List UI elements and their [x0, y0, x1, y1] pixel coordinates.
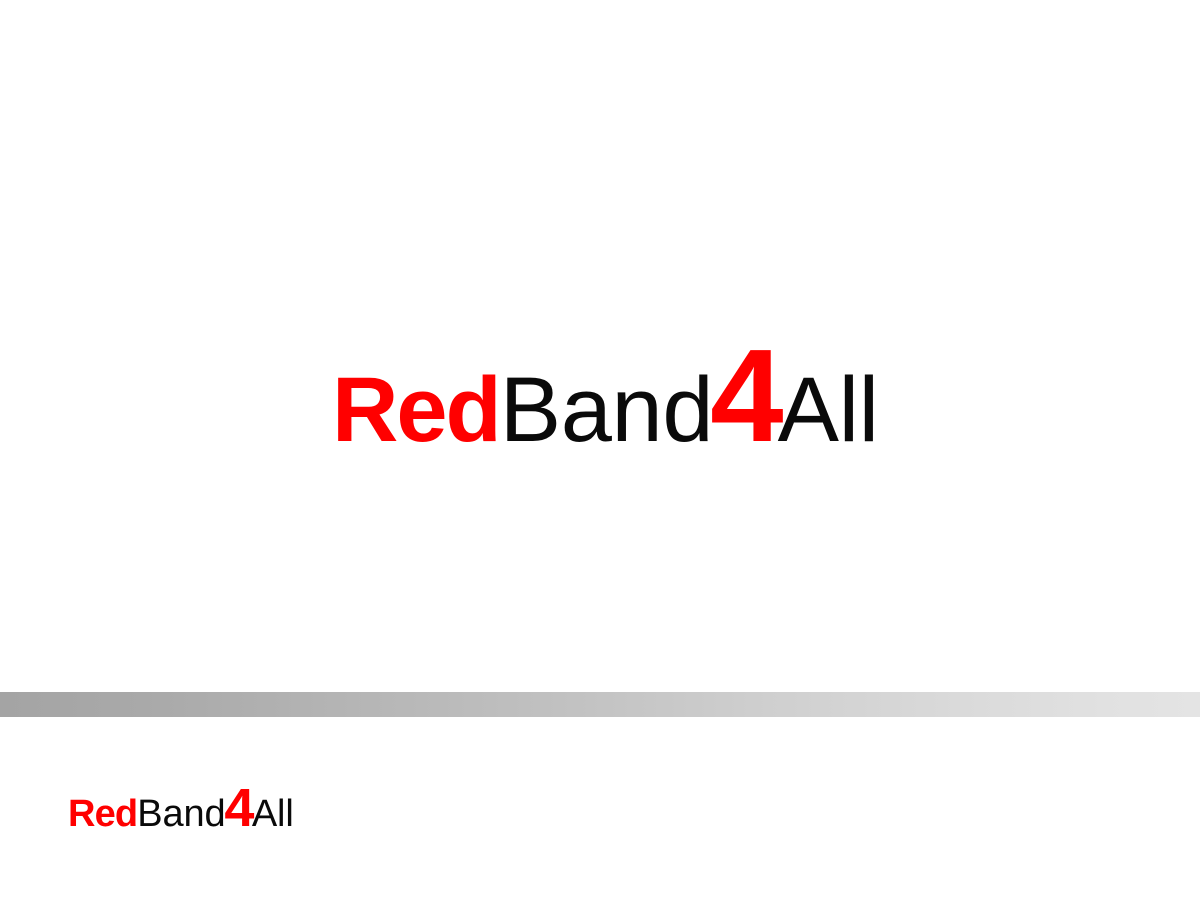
primary-logo-text-red: Red	[332, 364, 500, 456]
secondary-logo-text-four: 4	[224, 781, 252, 835]
primary-logo-text-band: Band	[500, 364, 713, 456]
primary-logo-text-all: All	[778, 364, 879, 456]
gradient-divider-band	[0, 692, 1200, 717]
secondary-logo-text-all: All	[252, 795, 294, 833]
secondary-logo-wordmark: RedBand4All	[68, 781, 294, 835]
primary-logo-wordmark: RedBand4All	[332, 330, 879, 462]
secondary-logo: RedBand4All	[68, 781, 294, 827]
primary-logo-text-four: 4	[710, 330, 779, 462]
primary-logo: RedBand4All	[332, 330, 879, 440]
secondary-logo-text-band: Band	[137, 795, 225, 833]
secondary-logo-text-red: Red	[68, 795, 137, 833]
logo-presentation-canvas: RedBand4All RedBand4All	[0, 0, 1200, 900]
